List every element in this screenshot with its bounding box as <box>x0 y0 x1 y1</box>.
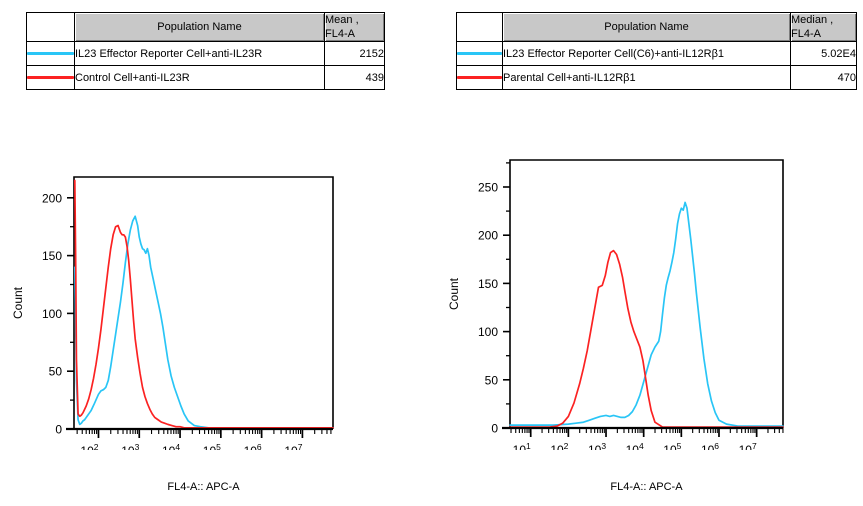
y-axis-tick-label: 50 <box>49 365 63 379</box>
population-name-cell: IL23 Effector Reporter Cell(C6)+anti-IL1… <box>503 42 791 66</box>
header-statistic: Median , FL4-A <box>791 13 857 42</box>
statistic-value-cell: 2152 <box>325 42 385 66</box>
series-color-swatch-cell <box>27 66 75 90</box>
y-axis-tick-label: 50 <box>485 373 499 387</box>
x-axis-tick-label: 104 <box>162 442 180 450</box>
x-axis-tick-label: 105 <box>203 442 221 450</box>
series-color-swatch-cell <box>27 42 75 66</box>
left-histogram-plot: 102103104105106107050100150200Count <box>0 150 420 450</box>
population-name-cell: Parental Cell+anti-IL12Rβ1 <box>503 66 791 90</box>
x-axis-tick-label: 103 <box>121 442 139 450</box>
left-panel-table-container: Population Name Mean , FL4-A IL23 Effect… <box>26 12 385 90</box>
x-axis-tick-label: 107 <box>284 442 302 450</box>
x-axis-tick-label: 106 <box>701 441 719 450</box>
y-axis-title: Count <box>11 286 25 319</box>
header-statistic-line1: Mean , <box>325 13 384 27</box>
y-axis-tick-label: 0 <box>491 422 498 436</box>
header-statistic-line2: FL4-A <box>791 27 856 41</box>
statistic-value-cell: 439 <box>325 66 385 90</box>
y-axis-tick-label: 100 <box>478 325 498 339</box>
table-header-row: Population Name Median , FL4-A <box>457 13 857 42</box>
series-color-swatch <box>457 76 502 79</box>
y-axis-tick-label: 150 <box>478 277 498 291</box>
right-panel-table-container: Population Name Median , FL4-A IL23 Effe… <box>456 12 857 90</box>
header-statistic-line1: Median , <box>791 13 856 27</box>
population-name-cell: IL23 Effector Reporter Cell+anti-IL23R <box>75 42 325 66</box>
y-axis-tick-label: 100 <box>42 307 62 321</box>
x-axis-tick-label: 103 <box>588 441 606 450</box>
y-axis-tick-label: 200 <box>478 229 498 243</box>
x-axis-tick-label: 105 <box>663 441 681 450</box>
header-statistic: Mean , FL4-A <box>325 13 385 42</box>
header-swatch-blank <box>457 13 503 42</box>
left-histogram-svg: 102103104105106107050100150200Count <box>0 150 420 450</box>
y-axis-title: Count <box>447 277 461 310</box>
histogram-series-line <box>510 251 783 427</box>
y-axis-tick-label: 0 <box>55 423 62 437</box>
left-statistics-table: Population Name Mean , FL4-A IL23 Effect… <box>26 12 385 90</box>
table-row[interactable]: IL23 Effector Reporter Cell(C6)+anti-IL1… <box>457 42 857 66</box>
table-row[interactable]: Control Cell+anti-IL23R 439 <box>27 66 385 90</box>
statistic-value-cell: 470 <box>791 66 857 90</box>
left-x-axis-title: FL4-A:: APC-A <box>74 481 333 493</box>
y-axis-tick-label: 200 <box>42 191 62 205</box>
right-statistics-table: Population Name Median , FL4-A IL23 Effe… <box>456 12 857 90</box>
header-population-name: Population Name <box>75 13 325 42</box>
histogram-series-line <box>75 180 333 427</box>
statistic-value-cell: 5.02E4 <box>791 42 857 66</box>
x-axis-tick-label: 102 <box>80 442 98 450</box>
x-axis-tick-label: 102 <box>550 441 568 450</box>
x-axis-tick-label: 106 <box>244 442 262 450</box>
histogram-series-line <box>75 216 333 428</box>
series-color-swatch <box>27 76 74 79</box>
series-color-swatch-cell <box>457 42 503 66</box>
y-axis-tick-label: 250 <box>478 180 498 194</box>
right-x-axis-title: FL4-A:: APC-A <box>510 481 783 493</box>
histogram-series-line <box>510 202 783 426</box>
y-axis-tick-label: 150 <box>42 249 62 263</box>
right-histogram-svg: 101102103104105106107050100150200250Coun… <box>430 150 863 450</box>
series-color-swatch <box>457 52 502 55</box>
series-color-swatch <box>27 52 74 55</box>
x-axis-tick-label: 107 <box>739 441 757 450</box>
x-axis-tick-label: 104 <box>626 441 644 450</box>
header-population-name: Population Name <box>503 13 791 42</box>
header-swatch-blank <box>27 13 75 42</box>
table-row[interactable]: IL23 Effector Reporter Cell+anti-IL23R 2… <box>27 42 385 66</box>
x-axis-tick-label: 101 <box>513 441 531 450</box>
table-row[interactable]: Parental Cell+anti-IL12Rβ1 470 <box>457 66 857 90</box>
plot-frame <box>74 177 333 429</box>
population-name-cell: Control Cell+anti-IL23R <box>75 66 325 90</box>
right-histogram-plot: 101102103104105106107050100150200250Coun… <box>430 150 863 450</box>
series-color-swatch-cell <box>457 66 503 90</box>
header-statistic-line2: FL4-A <box>325 27 384 41</box>
table-header-row: Population Name Mean , FL4-A <box>27 13 385 42</box>
